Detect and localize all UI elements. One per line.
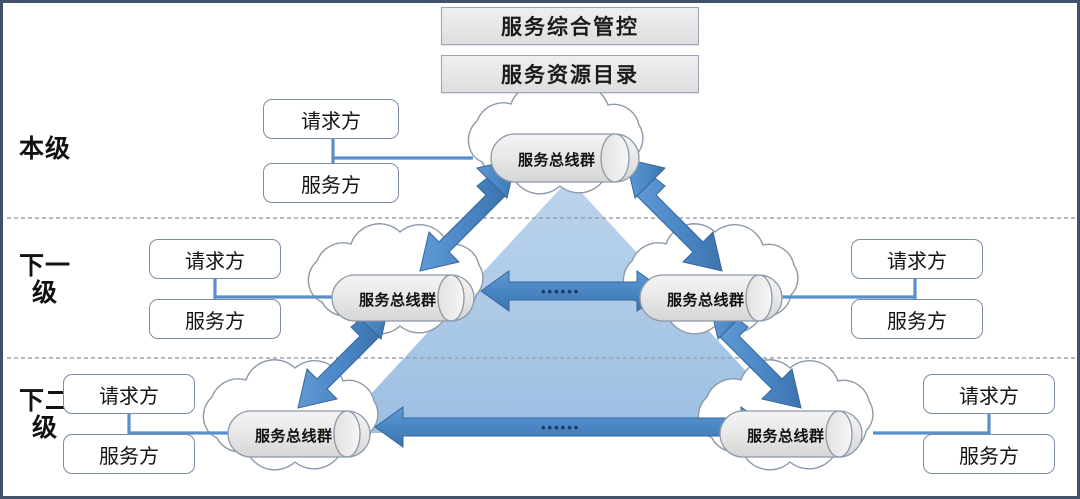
header-box-service-catalog[interactable]: 服务资源目录 (441, 55, 699, 93)
diagram-canvas: 服务综合管控 服务资源目录 本级 下一级 下二级 请求方 服务方 请求方 服务方… (0, 0, 1080, 499)
endpoint-top-requester[interactable]: 请求方 (263, 99, 399, 139)
endpoint-bottom-right-requester[interactable]: 请求方 (923, 374, 1055, 414)
endpoint-mid-right-requester[interactable]: 请求方 (851, 239, 983, 279)
endpoint-bottom-left-requester[interactable]: 请求方 (63, 374, 195, 414)
cylinder-bus-mid-right (640, 275, 782, 321)
cylinder-bus-mid-left (332, 275, 474, 321)
cylinder-bus-bottom-left (228, 411, 370, 457)
tier-label-xiayiji: 下一级 (15, 253, 75, 307)
cylinder-bus-top (491, 134, 639, 182)
endpoint-top-provider[interactable]: 服务方 (263, 163, 399, 203)
endpoint-mid-left-requester[interactable]: 请求方 (149, 239, 281, 279)
header-box-service-governance[interactable]: 服务综合管控 (441, 7, 699, 45)
endpoint-mid-right-provider[interactable]: 服务方 (851, 299, 983, 339)
cylinder-bus-bottom-right (720, 411, 862, 457)
tier-label-benji: 本级 (15, 136, 75, 163)
endpoint-bottom-left-provider[interactable]: 服务方 (63, 434, 195, 474)
endpoint-bottom-right-provider[interactable]: 服务方 (923, 434, 1055, 474)
endpoint-mid-left-provider[interactable]: 服务方 (149, 299, 281, 339)
